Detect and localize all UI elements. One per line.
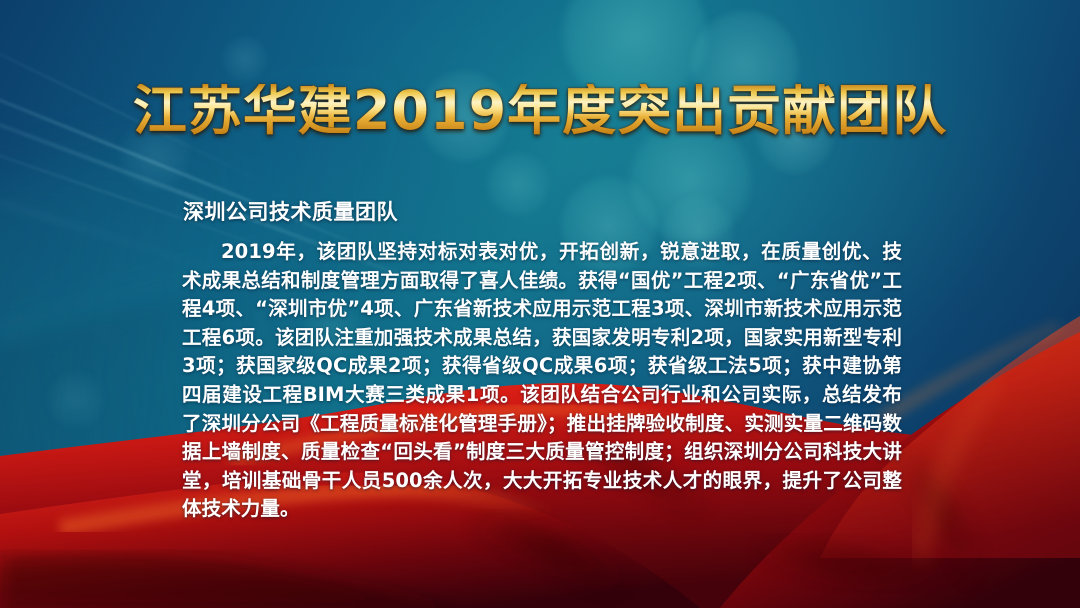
poster-content: 江苏华建2019年度突出贡献团队 深圳公司技术质量团队 2019年，该团队坚持对… (0, 0, 1080, 608)
body-paragraph: 2019年，该团队坚持对标对表对优，开拓创新，锐意进取，在质量创优、技术成果总结… (182, 238, 902, 524)
section-subtitle: 深圳公司技术质量团队 (183, 196, 398, 226)
page-title: 江苏华建2019年度突出贡献团队 (0, 84, 1080, 138)
poster-canvas: 江苏华建2019年度突出贡献团队 深圳公司技术质量团队 2019年，该团队坚持对… (0, 0, 1080, 608)
